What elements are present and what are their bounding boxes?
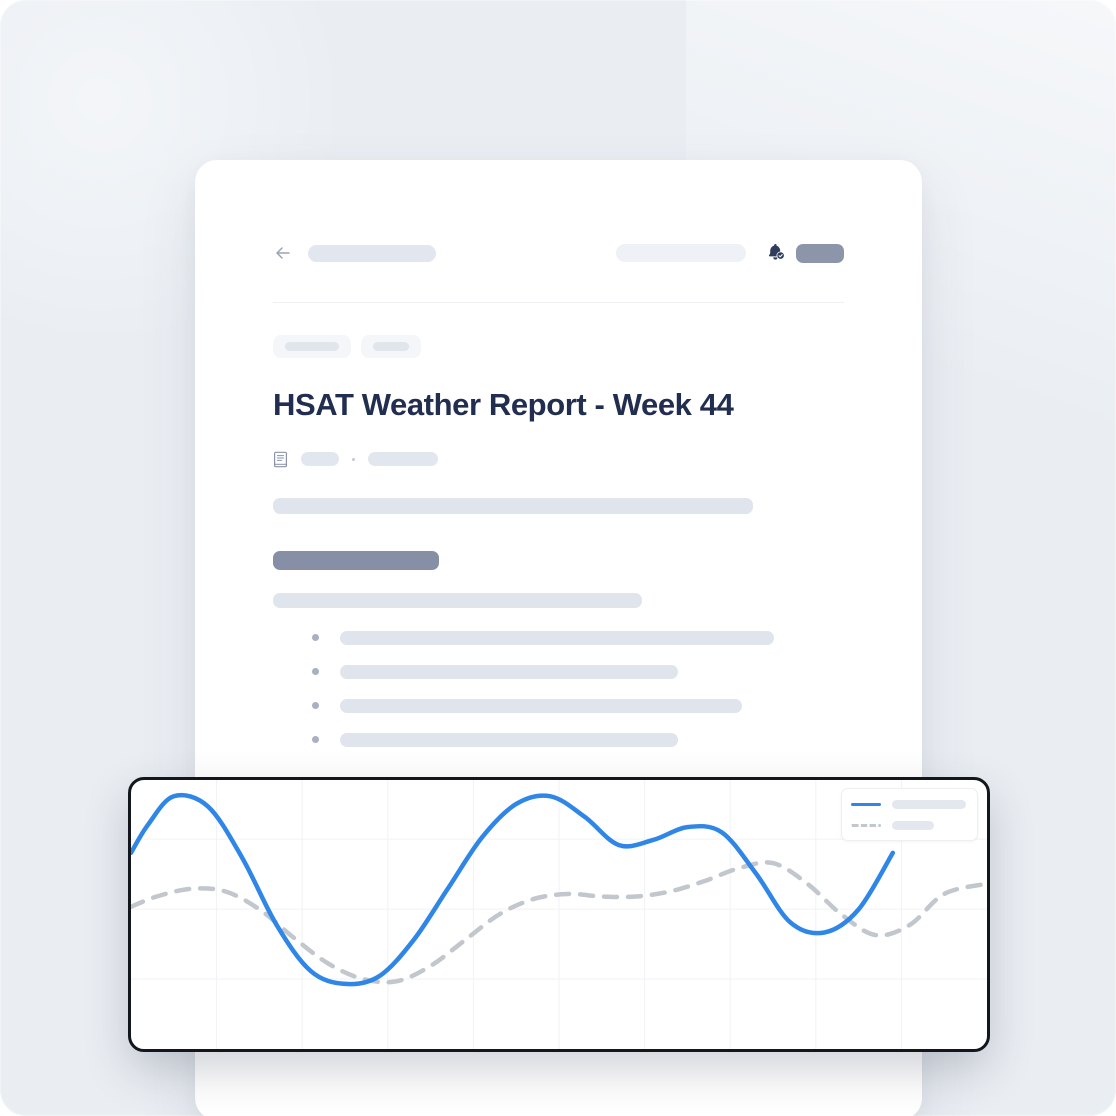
page-title: HSAT Weather Report - Week 44 bbox=[273, 387, 844, 423]
series-1-line bbox=[131, 795, 893, 984]
toolbar-divider bbox=[273, 302, 844, 303]
book-icon bbox=[273, 451, 288, 468]
legend-entry-1[interactable] bbox=[851, 797, 966, 811]
chart-legend[interactable] bbox=[841, 788, 978, 841]
bullet-list-top bbox=[273, 631, 844, 747]
bullet-dot-icon bbox=[312, 634, 319, 641]
meta-primary bbox=[301, 452, 339, 466]
tag-chip-1-label bbox=[285, 342, 339, 351]
tag-chip-1[interactable] bbox=[273, 335, 351, 358]
section-subtext bbox=[273, 593, 642, 608]
legend-label-1 bbox=[892, 800, 966, 809]
app-canvas: HSAT Weather Report - Week 44 bbox=[0, 0, 1116, 1116]
legend-label-2 bbox=[892, 821, 934, 830]
bullet-dot-icon bbox=[312, 736, 319, 743]
document-meta bbox=[273, 451, 844, 468]
document-toolbar bbox=[273, 238, 844, 268]
avatar[interactable] bbox=[796, 244, 844, 263]
legend-swatch-dashed-icon bbox=[851, 824, 881, 827]
tag-row bbox=[273, 335, 844, 358]
bell-check-icon[interactable] bbox=[764, 242, 786, 264]
arrow-left-icon[interactable] bbox=[273, 243, 293, 263]
meta-secondary bbox=[368, 452, 438, 466]
tag-chip-2-label bbox=[373, 342, 409, 351]
list-item[interactable] bbox=[273, 733, 844, 747]
summary-placeholder bbox=[273, 498, 753, 514]
legend-swatch-solid-icon bbox=[851, 803, 881, 806]
bullet-dot-icon bbox=[312, 668, 319, 675]
tag-chip-2[interactable] bbox=[361, 335, 421, 358]
legend-entry-2[interactable] bbox=[851, 818, 966, 832]
meta-separator bbox=[352, 458, 355, 461]
list-item-text bbox=[340, 699, 742, 713]
list-item[interactable] bbox=[273, 699, 844, 713]
list-item-text bbox=[340, 733, 678, 747]
search-input[interactable] bbox=[616, 244, 746, 262]
chart-overlay-card[interactable] bbox=[128, 777, 990, 1052]
section-heading bbox=[273, 551, 439, 570]
bullet-dot-icon bbox=[312, 702, 319, 709]
list-item-text bbox=[340, 665, 678, 679]
breadcrumb-title-placeholder[interactable] bbox=[308, 245, 436, 262]
list-item[interactable] bbox=[273, 665, 844, 679]
list-item[interactable] bbox=[273, 631, 844, 645]
list-item-text bbox=[340, 631, 774, 645]
